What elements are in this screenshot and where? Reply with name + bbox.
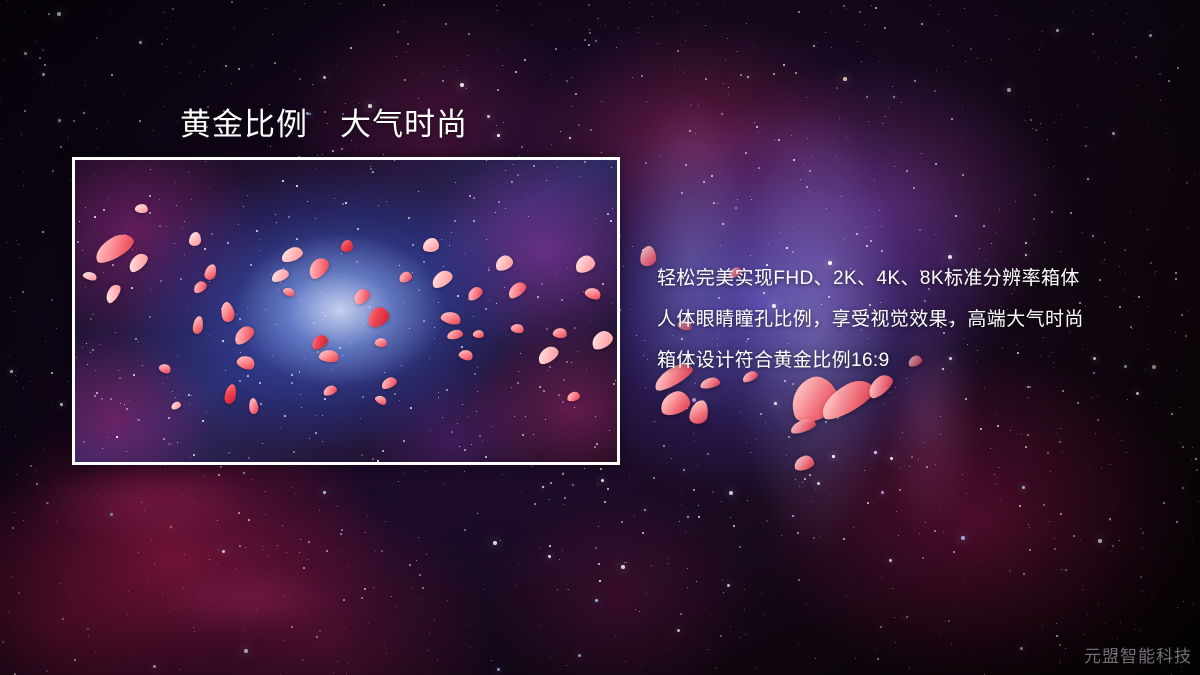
presentation-slide: 黄金比例 大气时尚 轻松完美实现FHD、2K、4K、8K标准分辨率箱体 人体眼睛… xyxy=(0,0,1200,675)
body-text-block: 轻松完美实现FHD、2K、4K、8K标准分辨率箱体 人体眼睛瞳孔比例，享受视觉效… xyxy=(657,258,1127,381)
photo-image xyxy=(75,160,617,462)
body-line-3: 箱体设计符合黄金比例16:9 xyxy=(657,340,1127,381)
watermark: 元盟智能科技 xyxy=(1084,642,1192,667)
page-title: 黄金比例 大气时尚 xyxy=(180,99,468,144)
petal xyxy=(189,232,201,246)
photo-frame xyxy=(72,157,620,465)
petal xyxy=(423,238,439,252)
body-line-1: 轻松完美实现FHD、2K、4K、8K标准分辨率箱体 xyxy=(657,258,1127,299)
body-line-2: 人体眼睛瞳孔比例，享受视觉效果，高端大气时尚 xyxy=(657,299,1127,340)
petal xyxy=(341,240,353,252)
